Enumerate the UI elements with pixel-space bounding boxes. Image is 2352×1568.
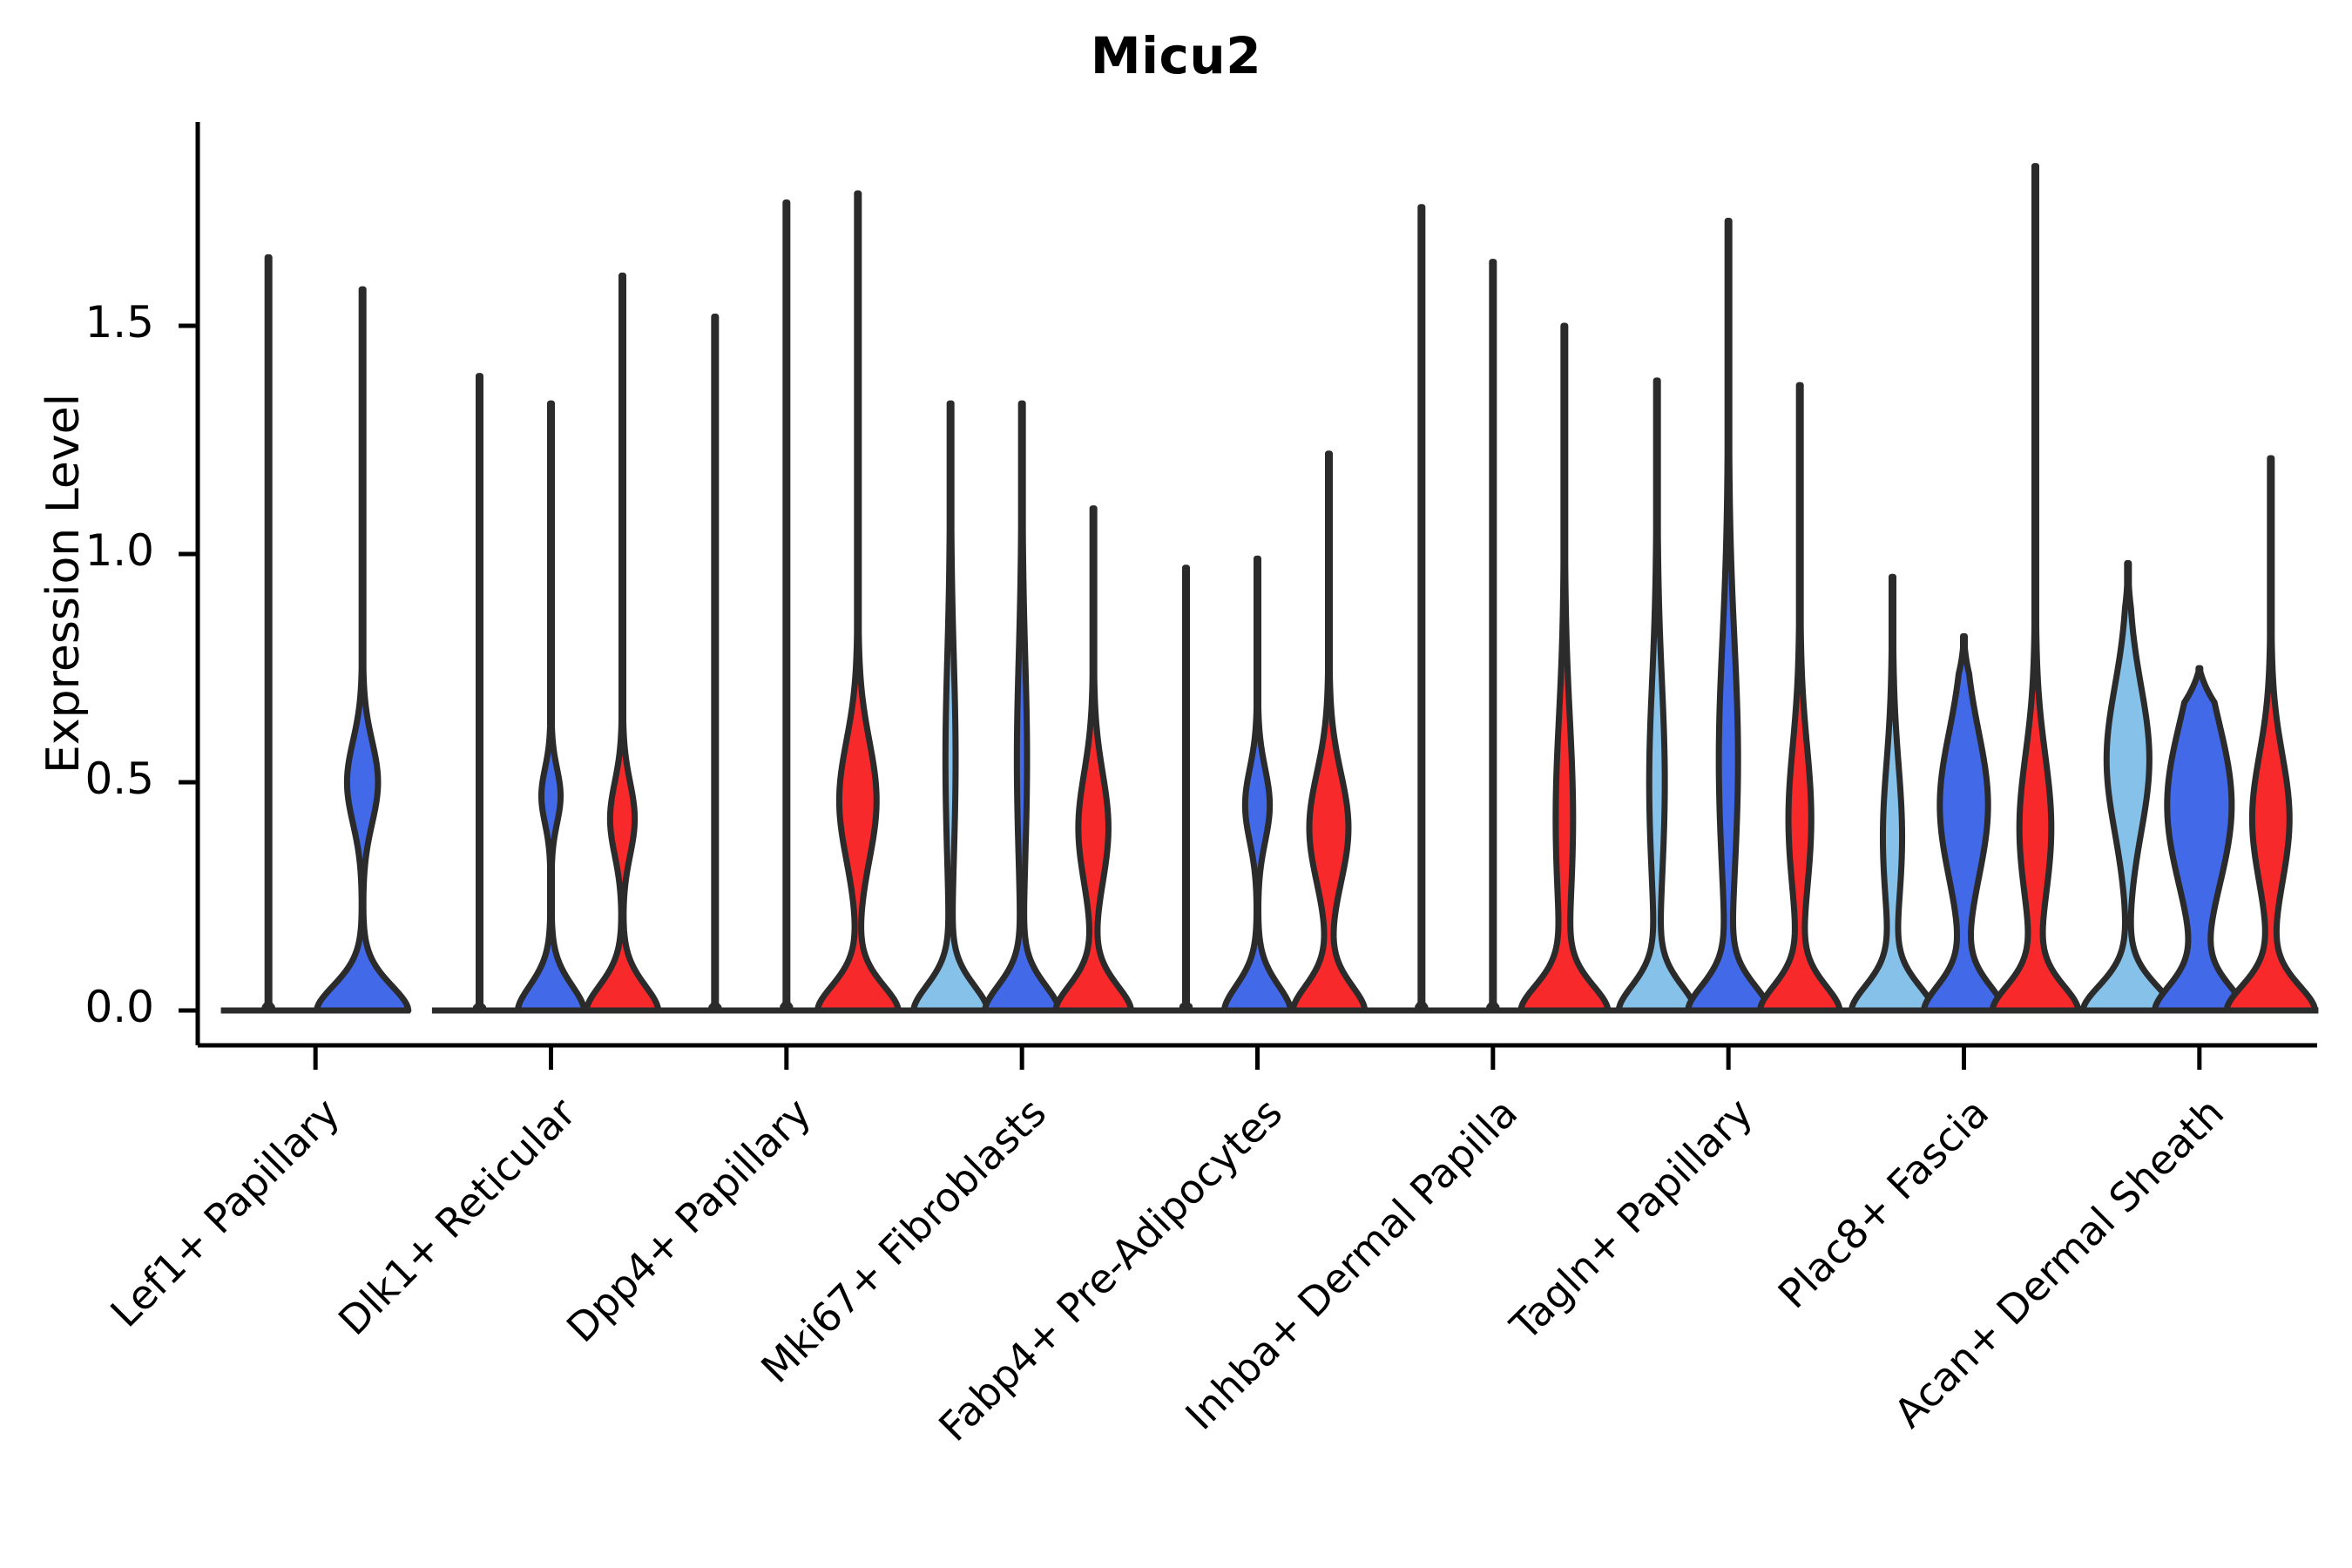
y-tick-label: 1.5 (15, 297, 154, 348)
violin-blue (317, 289, 409, 1010)
violin-light_blue (1182, 568, 1189, 1010)
violin-light_blue (476, 376, 483, 1010)
violin-red (1760, 385, 1839, 1010)
axes (179, 122, 2317, 1070)
violin-red (1992, 166, 2078, 1010)
violin-blue (517, 403, 584, 1010)
violin-light_blue (265, 257, 272, 1010)
violin-light_blue (1852, 577, 1934, 1010)
violin-red (1521, 326, 1608, 1010)
violin-series (221, 166, 2319, 1010)
violin-blue (1224, 558, 1290, 1010)
violin-red (2227, 458, 2315, 1010)
violin-light_blue (914, 403, 988, 1010)
y-tick-label: 0.0 (15, 982, 154, 1032)
violin-blue (1688, 220, 1769, 1010)
y-tick-label: 0.5 (15, 754, 154, 804)
violin-light_blue (2083, 563, 2173, 1010)
violin-blue (1924, 636, 2004, 1010)
violin-blue (783, 203, 790, 1010)
violin-blue (1490, 262, 1497, 1010)
violin-light_blue (1619, 381, 1695, 1010)
violin-red (1293, 454, 1365, 1010)
violin-red (817, 193, 898, 1010)
violin-red (1056, 509, 1132, 1010)
y-tick-label: 1.0 (15, 525, 154, 576)
violin-blue (985, 403, 1059, 1010)
violin-red (586, 275, 658, 1010)
violin-light_blue (712, 317, 719, 1010)
violin-blue (2155, 668, 2244, 1010)
violin-light_blue (1418, 207, 1425, 1010)
